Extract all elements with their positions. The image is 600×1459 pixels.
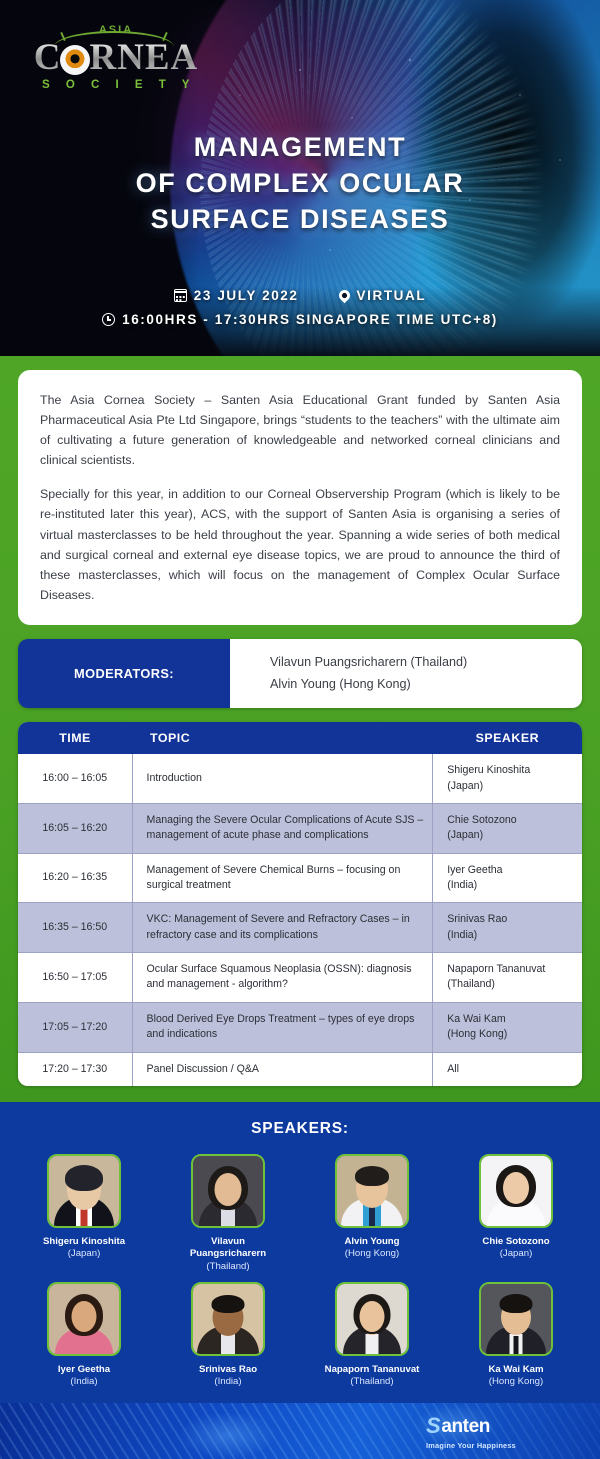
speakers-row-1: Shigeru Kinoshita (Japan) Vilavun Puangs… (0, 1154, 600, 1274)
avatar (191, 1282, 265, 1356)
speaker-country: (Thailand) (180, 1261, 276, 1274)
cell-topic: Ocular Surface Squamous Neoplasia (OSSN)… (132, 953, 433, 1003)
column-header-topic: TOPIC (132, 722, 433, 754)
avatar (191, 1154, 265, 1228)
title-line-1: MANAGEMENT (0, 130, 600, 166)
speaker-card: Srinivas Rao (India) (180, 1282, 276, 1389)
cell-speaker-name: Napaporn Tananuvat (447, 963, 545, 975)
table-row: 16:20 – 16:35 Management of Severe Chemi… (18, 853, 582, 903)
event-time: 16:00HRS - 17:30HRS SINGAPORE TIME UTC+8… (102, 312, 498, 327)
avatar (47, 1282, 121, 1356)
speaker-name: Srinivas Rao (180, 1364, 276, 1376)
moderators-names: Vilavun Puangsricharern (Thailand) Alvin… (230, 639, 582, 708)
cell-topic: Introduction (132, 754, 433, 803)
moderators-panel: MODERATORS: Vilavun Puangsricharern (Tha… (18, 639, 582, 708)
cell-speaker: Shigeru Kinoshita (Japan) (433, 754, 582, 803)
speaker-card: Shigeru Kinoshita (Japan) (36, 1154, 132, 1274)
page-title: MANAGEMENT OF COMPLEX OCULAR SURFACE DIS… (0, 130, 600, 238)
cell-time: 16:50 – 17:05 (18, 953, 132, 1003)
speaker-card: Vilavun Puangsricharern (Thailand) (180, 1154, 276, 1274)
avatar (479, 1154, 553, 1228)
speaker-name: Chie Sotozono (468, 1236, 564, 1248)
speaker-card: Napaporn Tananuvat (Thailand) (324, 1282, 420, 1389)
cell-topic: Managing the Severe Ocular Complications… (132, 803, 433, 853)
speaker-name: Alvin Young (324, 1236, 420, 1248)
location-pin-icon (336, 288, 352, 304)
cell-topic: Panel Discussion / Q&A (132, 1052, 433, 1086)
cell-speaker-country: (Japan) (447, 829, 483, 841)
avatar (479, 1282, 553, 1356)
speaker-card: Chie Sotozono (Japan) (468, 1154, 564, 1274)
cell-topic: Blood Derived Eye Drops Treatment – type… (132, 1002, 433, 1052)
cell-speaker-name: Iyer Geetha (447, 864, 502, 876)
cell-time: 16:05 – 16:20 (18, 803, 132, 853)
cell-speaker-country: (Hong Kong) (447, 1028, 507, 1040)
cell-speaker-name: Srinivas Rao (447, 913, 507, 925)
logo-asia-text: ASIA (26, 24, 206, 38)
cell-speaker: All (433, 1052, 582, 1086)
title-line-2: OF COMPLEX OCULAR (0, 166, 600, 202)
cell-time: 16:00 – 16:05 (18, 754, 132, 803)
hero-banner: ASIA C RNEA S O C I E T Y MANAGEMENT OF … (0, 0, 600, 356)
calendar-icon (174, 289, 187, 302)
intro-card: The Asia Cornea Society – Santen Asia Ed… (18, 370, 582, 625)
agenda-table: TIME TOPIC SPEAKER 16:00 – 16:05 Introdu… (18, 722, 582, 1086)
speaker-country: (India) (180, 1376, 276, 1389)
agenda-header-row: TIME TOPIC SPEAKER (18, 722, 582, 754)
speaker-card: Ka Wai Kam (Hong Kong) (468, 1282, 564, 1389)
table-row: 16:00 – 16:05 Introduction Shigeru Kinos… (18, 754, 582, 803)
cell-speaker: Iyer Geetha (India) (433, 853, 582, 903)
table-row: 16:05 – 16:20 Managing the Severe Ocular… (18, 803, 582, 853)
logo-society-label: S O C I E T Y (26, 79, 206, 91)
speaker-name: Ka Wai Kam (468, 1364, 564, 1376)
table-row: 17:20 – 17:30 Panel Discussion / Q&A All (18, 1052, 582, 1086)
santen-mark-icon: S (426, 1415, 440, 1437)
event-time-text: 16:00HRS - 17:30HRS SINGAPORE TIME UTC+8… (122, 312, 498, 327)
speaker-country: (India) (36, 1376, 132, 1389)
santen-tagline: Imagine Your Happiness (426, 1441, 516, 1450)
asia-cornea-society-logo: ASIA C RNEA S O C I E T Y (26, 24, 206, 91)
avatar (335, 1154, 409, 1228)
eye-icon (60, 45, 90, 75)
cell-time: 16:35 – 16:50 (18, 903, 132, 953)
footer-banner: S anten Imagine Your Happiness (0, 1403, 600, 1459)
cell-speaker-country: (Japan) (447, 780, 483, 792)
moderator-1: Vilavun Puangsricharern (Thailand) (270, 652, 566, 674)
speaker-country: (Japan) (468, 1248, 564, 1261)
table-row: 16:50 – 17:05 Ocular Surface Squamous Ne… (18, 953, 582, 1003)
santen-logo: S anten Imagine Your Happiness (426, 1415, 516, 1450)
cell-speaker-name: Chie Sotozono (447, 814, 517, 826)
cell-speaker-name: Shigeru Kinoshita (447, 764, 530, 776)
speakers-section: SPEAKERS: Shigeru Kinoshita (Japan) (0, 1102, 600, 1403)
agenda-body: 16:00 – 16:05 Introduction Shigeru Kinos… (18, 754, 582, 1086)
moderators-label: MODERATORS: (18, 639, 230, 708)
speaker-country: (Thailand) (324, 1376, 420, 1389)
cell-speaker: Chie Sotozono (Japan) (433, 803, 582, 853)
table-row: 16:35 – 16:50 VKC: Management of Severe … (18, 903, 582, 953)
cell-speaker-country: (India) (447, 929, 477, 941)
speakers-row-2: Iyer Geetha (India) Srinivas Rao (India) (0, 1282, 600, 1389)
speaker-name: Napaporn Tananuvat (324, 1364, 420, 1376)
moderator-2: Alvin Young (Hong Kong) (270, 674, 566, 696)
cell-topic: Management of Severe Chemical Burns – fo… (132, 853, 433, 903)
speakers-heading: SPEAKERS: (0, 1120, 600, 1138)
cell-speaker: Srinivas Rao (India) (433, 903, 582, 953)
speaker-country: (Hong Kong) (468, 1376, 564, 1389)
avatar (47, 1154, 121, 1228)
cell-speaker-country: (Thailand) (447, 978, 495, 990)
santen-brand-text: anten (441, 1417, 490, 1436)
cell-topic: VKC: Management of Severe and Refractory… (132, 903, 433, 953)
title-line-3: SURFACE DISEASES (0, 202, 600, 238)
speaker-country: (Hong Kong) (324, 1248, 420, 1261)
cell-speaker: Ka Wai Kam (Hong Kong) (433, 1002, 582, 1052)
event-poster: ASIA C RNEA S O C I E T Y MANAGEMENT OF … (0, 0, 600, 1410)
cell-speaker-country: (India) (447, 879, 477, 891)
avatar (335, 1282, 409, 1356)
event-date: 23 JULY 2022 (174, 288, 299, 303)
speaker-name: Shigeru Kinoshita (36, 1236, 132, 1248)
event-venue-text: VIRTUAL (357, 288, 427, 303)
cell-time: 17:05 – 17:20 (18, 1002, 132, 1052)
clock-icon (102, 313, 115, 326)
column-header-time: TIME (18, 722, 132, 754)
intro-paragraph-1: The Asia Cornea Society – Santen Asia Ed… (40, 390, 560, 470)
speaker-name: Vilavun Puangsricharern (180, 1236, 276, 1261)
speaker-name: Iyer Geetha (36, 1364, 132, 1376)
intro-paragraph-2: Specially for this year, in addition to … (40, 484, 560, 605)
cell-speaker-name: Ka Wai Kam (447, 1013, 505, 1025)
speaker-country: (Japan) (36, 1248, 132, 1261)
cell-time: 17:20 – 17:30 (18, 1052, 132, 1086)
content-section: The Asia Cornea Society – Santen Asia Ed… (0, 356, 600, 1102)
event-date-text: 23 JULY 2022 (194, 288, 299, 303)
table-row: 17:05 – 17:20 Blood Derived Eye Drops Tr… (18, 1002, 582, 1052)
cell-speaker: Napaporn Tananuvat (Thailand) (433, 953, 582, 1003)
event-venue: VIRTUAL (339, 288, 427, 303)
speaker-card: Iyer Geetha (India) (36, 1282, 132, 1389)
column-header-speaker: SPEAKER (433, 722, 582, 754)
event-meta: 23 JULY 2022 VIRTUAL 16:00HRS - 17:30HRS… (0, 288, 600, 327)
cell-time: 16:20 – 16:35 (18, 853, 132, 903)
speaker-card: Alvin Young (Hong Kong) (324, 1154, 420, 1274)
